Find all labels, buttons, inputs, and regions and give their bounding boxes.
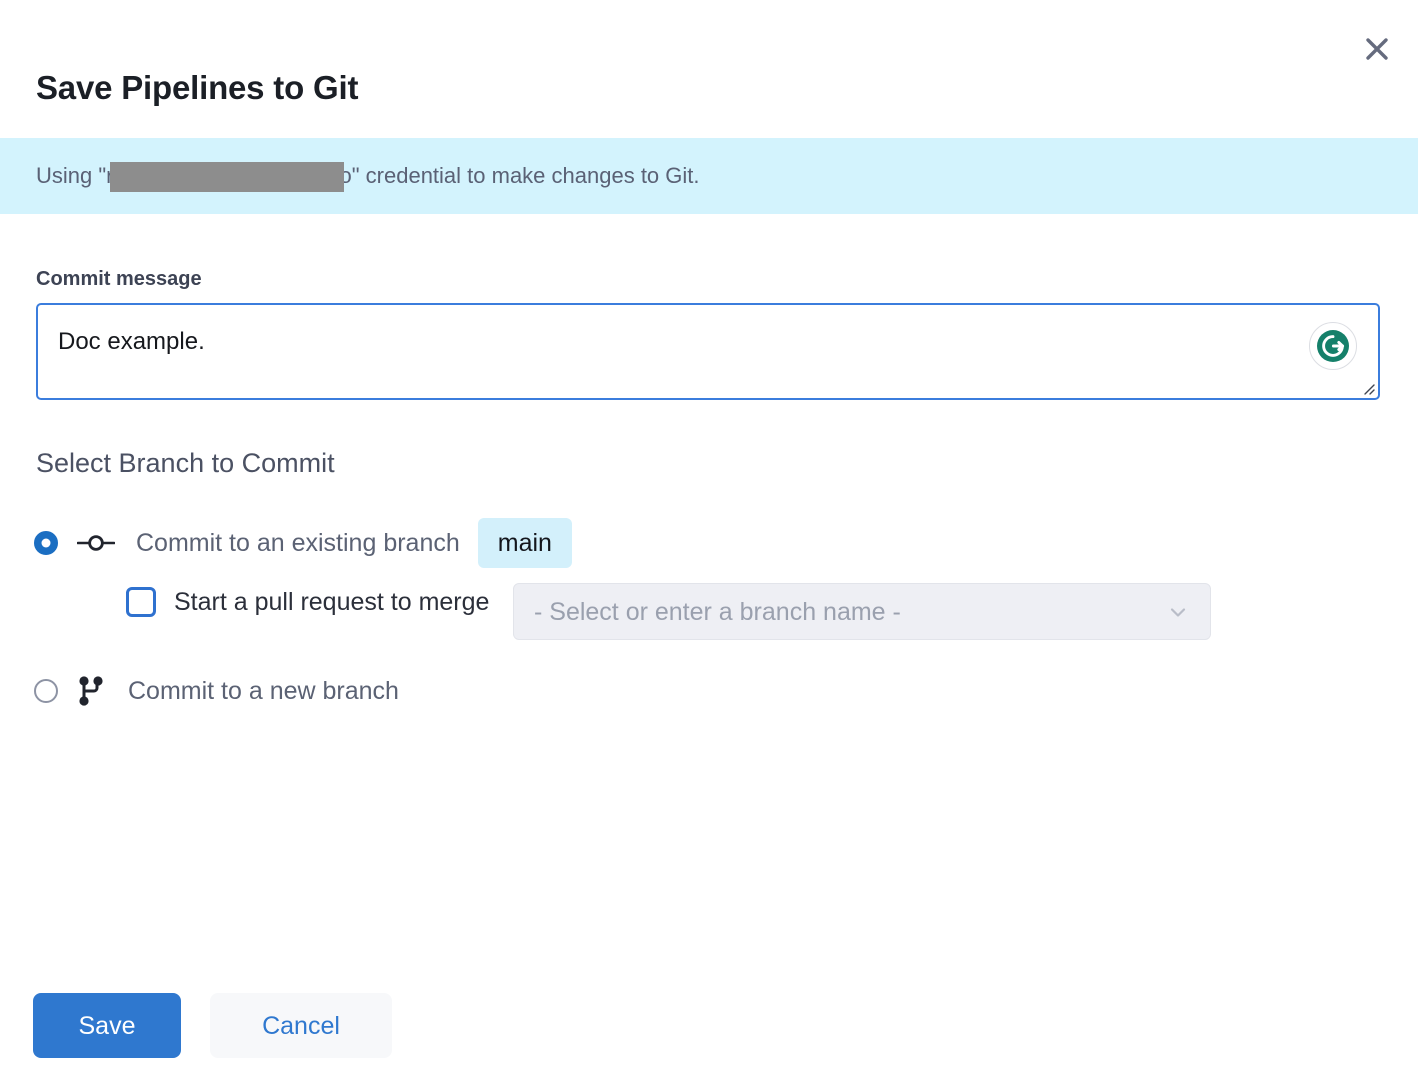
redacted-credential-name xyxy=(110,162,344,192)
radio-new-branch[interactable] xyxy=(34,679,58,703)
dialog-title: Save Pipelines to Git xyxy=(36,67,358,109)
textarea-resize-handle[interactable] xyxy=(1359,379,1375,395)
git-branch-icon xyxy=(77,674,107,708)
radio-existing-branch[interactable] xyxy=(34,531,58,555)
cancel-button[interactable]: Cancel xyxy=(210,993,392,1058)
pull-request-checkbox[interactable] xyxy=(126,587,156,617)
commit-message-label: Commit message xyxy=(36,266,202,292)
credential-info-banner: Using "r o" credential to make changes t… xyxy=(0,138,1418,214)
close-button[interactable] xyxy=(1354,26,1400,72)
banner-text-after: o" credential to make changes to Git. xyxy=(340,161,700,191)
git-commit-icon xyxy=(77,532,115,554)
option-commit-new-branch[interactable]: Commit to a new branch xyxy=(34,674,399,708)
pull-request-branch-select[interactable]: - Select or enter a branch name - xyxy=(513,583,1211,640)
pull-request-label: Start a pull request to merge xyxy=(174,586,489,618)
chevron-down-icon xyxy=(1166,600,1190,624)
save-pipelines-to-git-dialog: Save Pipelines to Git Using "r o" creden… xyxy=(0,0,1418,1092)
grammarly-icon[interactable] xyxy=(1309,322,1357,370)
pull-request-row[interactable]: Start a pull request to merge xyxy=(126,586,489,618)
commit-message-input[interactable] xyxy=(38,305,1378,398)
option-existing-branch-label: Commit to an existing branch xyxy=(136,527,460,559)
dialog-footer: Save Cancel xyxy=(33,993,392,1058)
credential-info-text: Using "r o" credential to make changes t… xyxy=(0,161,700,191)
banner-text-before: Using "r xyxy=(36,161,114,191)
close-icon xyxy=(1364,36,1390,62)
option-new-branch-label: Commit to a new branch xyxy=(128,675,399,707)
commit-message-field[interactable] xyxy=(36,303,1380,400)
save-button[interactable]: Save xyxy=(33,993,181,1058)
current-branch-badge[interactable]: main xyxy=(478,518,572,568)
pull-request-branch-placeholder: - Select or enter a branch name - xyxy=(534,596,1166,628)
branch-section-heading: Select Branch to Commit xyxy=(36,445,335,481)
option-commit-existing-branch[interactable]: Commit to an existing branch main xyxy=(34,518,572,568)
